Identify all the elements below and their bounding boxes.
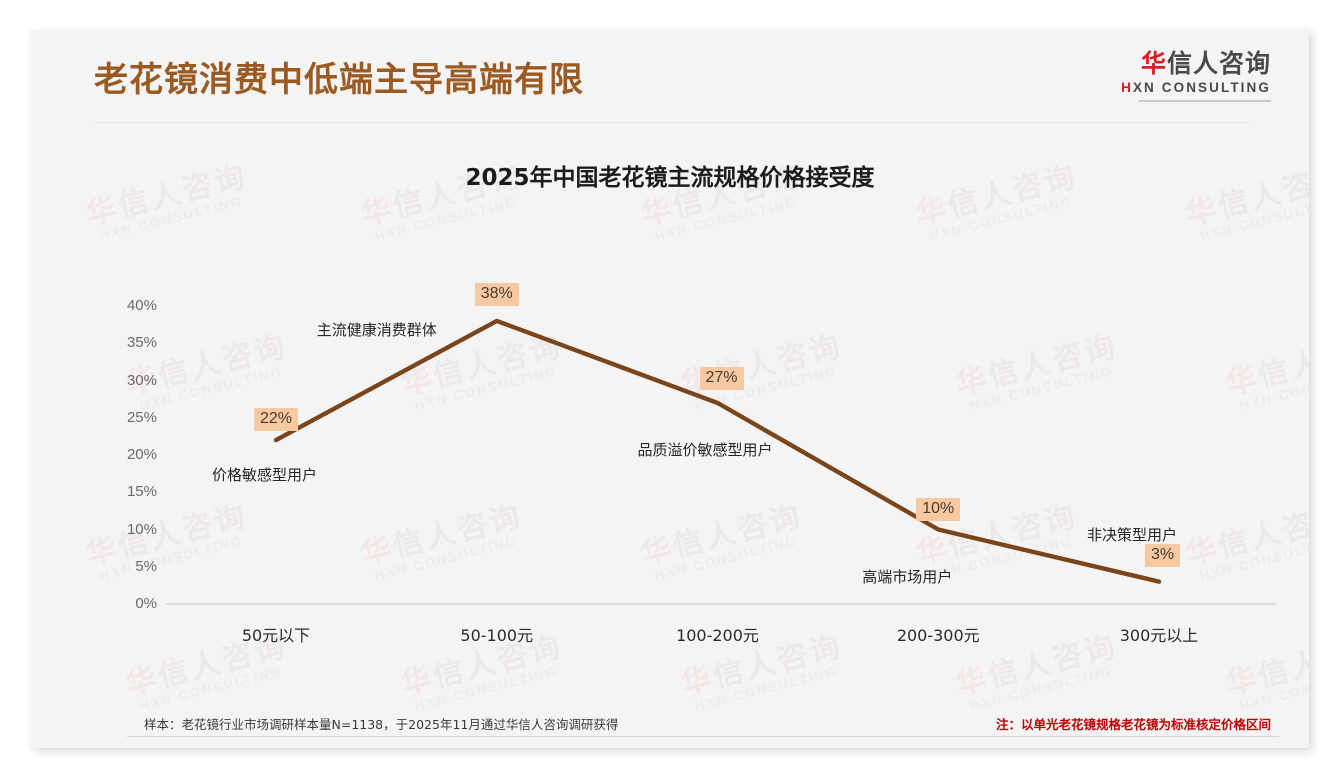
data-point-value-label: 38% [475,283,519,306]
chart-plot-area: 0%5%10%15%20%25%30%35%40% 50元以下50-100元10… [31,30,1309,748]
data-point-value-label: 10% [916,498,960,521]
footer-divider [127,736,1279,737]
y-axis-tick-label: 25% [103,409,157,426]
slide-background: 华信人咨询HXN CONSULTING华信人咨询HXN CONSULTING华信… [0,0,1340,780]
y-axis-tick-label: 15% [103,483,157,500]
footer-red-note: 注：以单光老花镜规格老花镜为标准核定价格区间 [996,714,1271,733]
footer-website-url[interactable]: www.hxrcon.com [1148,746,1246,748]
data-point-annotation: 价格敏感型用户 [212,464,317,485]
data-point-annotation: 非决策型用户 [1087,524,1177,545]
data-point-annotation: 品质溢价敏感型用户 [638,439,773,460]
data-point-annotation: 高端市场用户 [862,566,952,587]
y-axis-tick-label: 10% [103,521,157,538]
y-axis-tick-label: 35% [103,334,157,351]
data-point-value-label: 27% [700,367,744,390]
footer-copyright: ©2026.1 HXR华信人咨询 [131,746,286,748]
y-axis-tick-label: 20% [103,446,157,463]
slide-card: 华信人咨询HXN CONSULTING华信人咨询HXN CONSULTING华信… [31,30,1309,748]
x-axis-tick-label: 100-200元 [628,622,808,646]
x-axis-tick-label: 50元以下 [186,622,366,646]
data-point-value-label: 3% [1145,544,1180,567]
x-axis-tick-label: 300元以上 [1069,622,1249,646]
y-axis-tick-label: 5% [103,558,157,575]
x-axis-tick-label: 50-100元 [407,622,587,646]
y-axis-tick-label: 30% [103,372,157,389]
y-axis-tick-label: 0% [103,595,157,612]
x-axis-tick-label: 200-300元 [848,622,1028,646]
data-point-annotation: 主流健康消费群体 [317,319,437,340]
data-point-value-label: 22% [254,408,298,431]
footer-sample-note: 样本：老花镜行业市场调研样本量N=1138，于2025年11月通过华信人咨询调研… [144,714,618,733]
y-axis-tick-label: 40% [103,297,157,314]
